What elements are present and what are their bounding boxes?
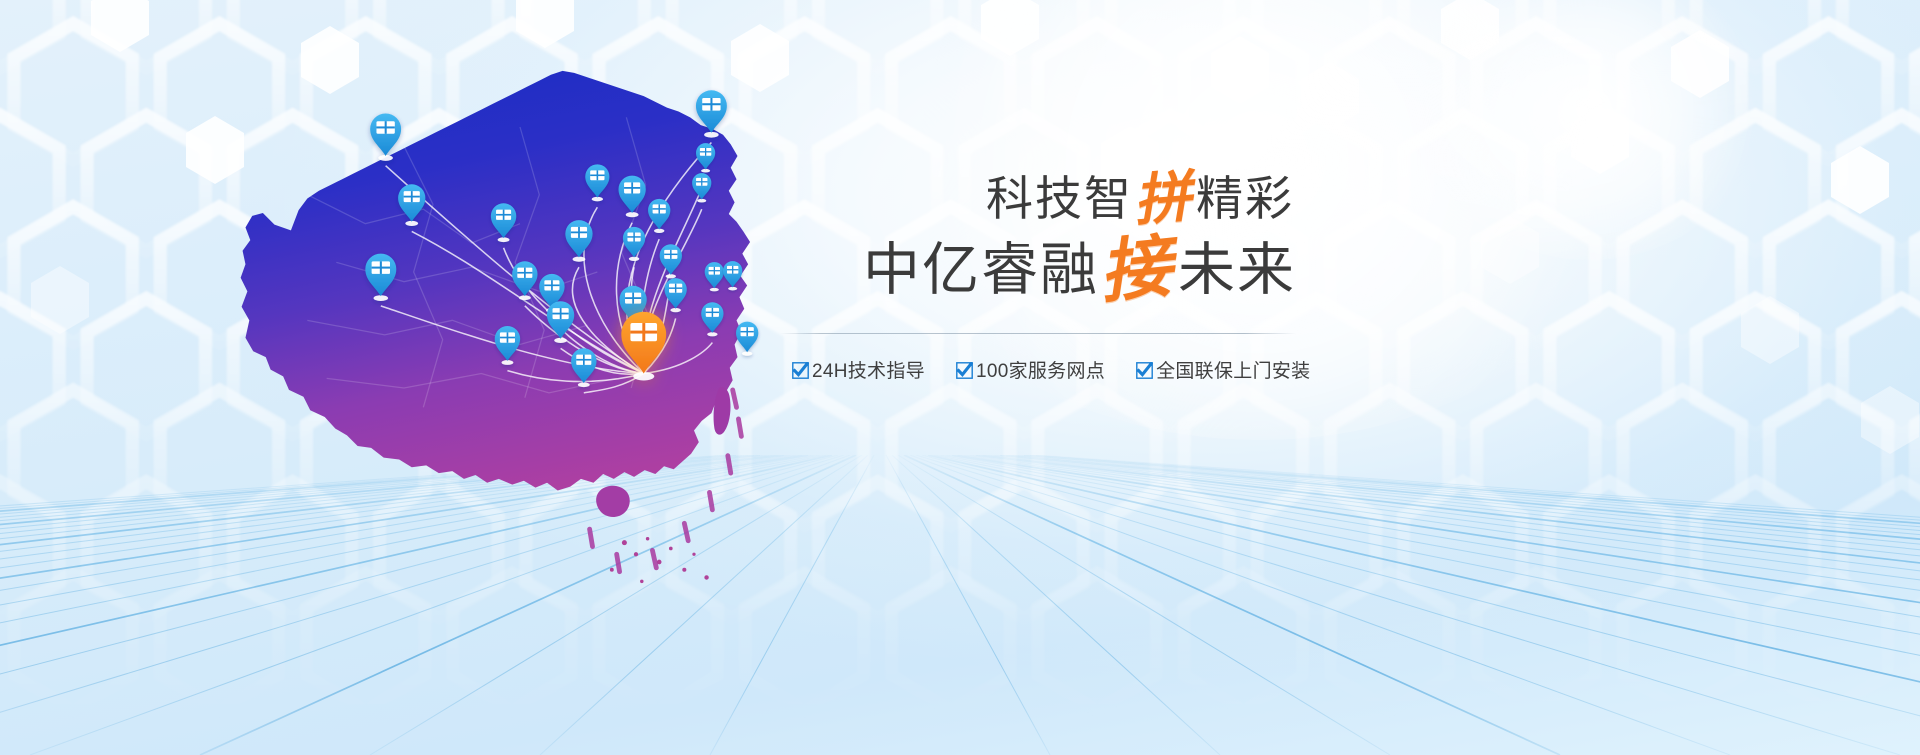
check-icon: [792, 362, 809, 379]
feature-label: 全国联保上门安装: [1156, 356, 1310, 383]
display-screen-icon: [706, 308, 719, 317]
headline-line2-accent: 接: [1095, 222, 1176, 318]
promo-banner: 科技智拼精彩 中亿睿融接未来 24H技术指导: [0, 0, 1920, 755]
headline-line1-pre: 科技智: [986, 172, 1133, 225]
display-screen-icon: [664, 250, 677, 259]
display-screen-icon: [517, 268, 532, 278]
pin-taiwan[interactable]: [736, 322, 758, 356]
display-screen-icon: [576, 355, 591, 365]
display-screen-icon: [696, 178, 707, 186]
display-screen-icon: [627, 232, 640, 241]
feature-label: 24H技术指导: [812, 356, 925, 383]
display-screen-icon: [496, 210, 511, 220]
display-screen-icon: [590, 170, 604, 180]
background-glow-right: [1420, 0, 1760, 260]
display-screen-icon: [653, 204, 666, 213]
check-icon: [1136, 362, 1153, 379]
feature-badge-0: 24H技术指导: [792, 356, 925, 383]
display-screen-icon: [624, 182, 640, 193]
display-screen-icon: [709, 267, 720, 275]
headline-line-2: 中亿睿融接未来: [780, 233, 1300, 307]
display-screen-icon: [630, 323, 657, 341]
south-sea-islands: [610, 537, 709, 583]
headline-line2-pre: 中亿睿融: [863, 238, 1099, 302]
feature-label: 100家服务网点: [976, 356, 1105, 383]
display-screen-icon: [625, 293, 641, 304]
feature-badge-list: 24H技术指导 100家服务网点 全国联保上: [780, 356, 1300, 383]
check-icon: [956, 362, 973, 379]
display-screen-icon: [404, 191, 420, 202]
hainan-island: [596, 486, 630, 517]
headline-line1-post: 精彩: [1196, 172, 1294, 225]
display-screen-icon: [544, 280, 559, 290]
display-screen-icon: [500, 332, 515, 342]
display-screen-icon: [700, 148, 711, 156]
display-screen-icon: [372, 261, 390, 274]
display-screen-icon: [553, 308, 569, 319]
china-service-network-map: [210, 40, 830, 620]
headline-divider: [780, 333, 1296, 334]
display-screen-icon: [571, 227, 587, 238]
headline-line-1: 科技智拼精彩: [780, 168, 1300, 231]
display-screen-icon: [702, 98, 720, 111]
display-screen-icon: [376, 121, 394, 134]
display-screen-icon: [741, 327, 754, 336]
display-screen-icon: [669, 284, 682, 293]
headline-line2-post: 未来: [1178, 238, 1296, 302]
feature-badge-1: 100家服务网点: [956, 356, 1105, 383]
display-screen-icon: [727, 266, 738, 274]
headline-copy-block: 科技智拼精彩 中亿睿融接未来 24H技术指导: [780, 168, 1300, 383]
feature-badge-2: 全国联保上门安装: [1136, 356, 1310, 383]
